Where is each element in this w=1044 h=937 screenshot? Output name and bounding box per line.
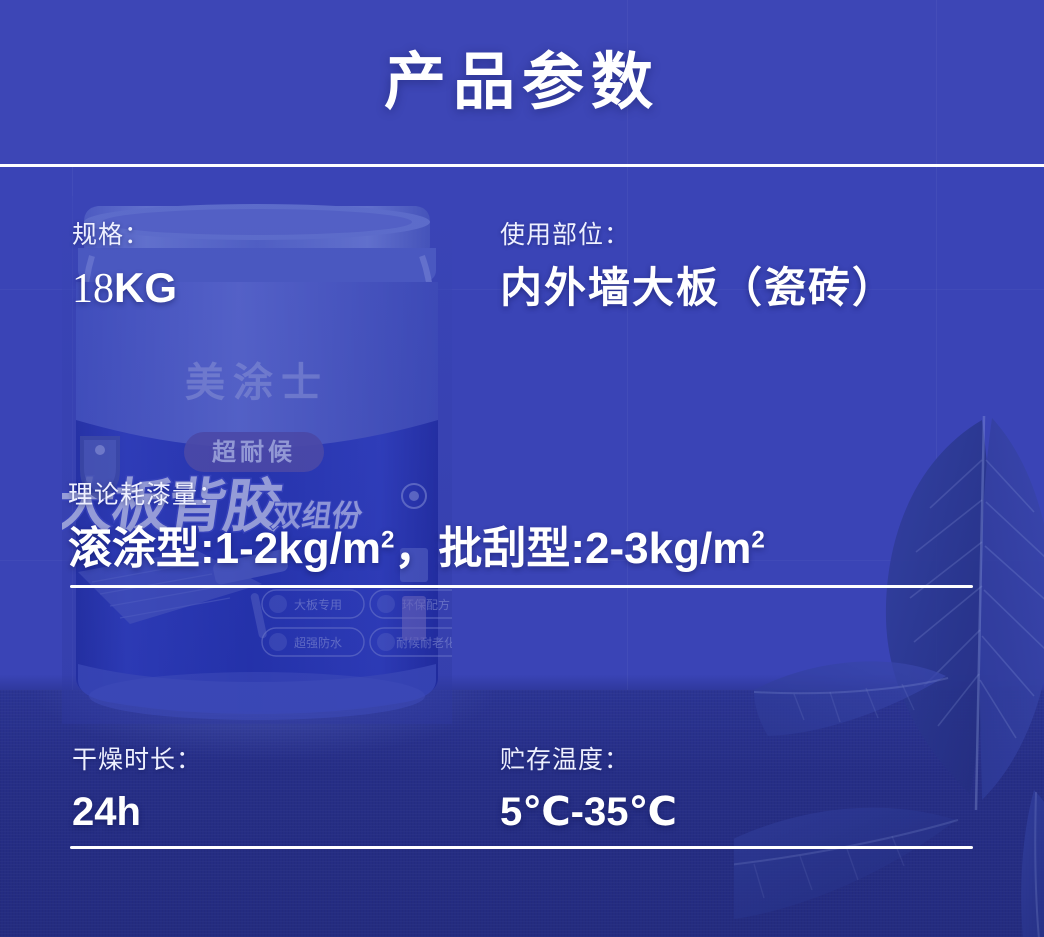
spec-value-consumption: 滚涂型:1-2kg/m2，批刮型:2-3kg/m2 xyxy=(68,524,1004,575)
consumption-roller: 滚涂型:1-2kg/m xyxy=(68,524,381,573)
consumption-separator: ，批刮型:2-3kg/m xyxy=(394,524,751,573)
spec-value-drying-time: 24h xyxy=(72,789,202,835)
consumption-sup-1: 2 xyxy=(381,526,394,553)
spec-item-storage-temp: 贮存温度： 5℃-35℃ xyxy=(500,745,677,835)
spec-label-application: 使用部位： xyxy=(500,220,896,250)
spec-label-drying-time: 干燥时长： xyxy=(72,745,202,775)
spec-list: 规格： 18KG 使用部位： 内外墙大板（瓷砖） 理论耗漆量： 滚涂型:1-2k… xyxy=(0,165,1044,937)
spec-label-size: 规格： xyxy=(72,220,177,250)
spec-row-2: 理论耗漆量： 滚涂型:1-2kg/m2，批刮型:2-3kg/m2 xyxy=(0,480,1044,745)
product-spec-card: 美涂士 超耐候 大板背胶 双组份 xyxy=(0,0,1044,937)
consumption-sup-2: 2 xyxy=(751,526,764,553)
spec-value-size-number: 18 xyxy=(72,266,114,312)
spec-row-3: 干燥时长： 24h 贮存温度： 5℃-35℃ xyxy=(0,745,1044,937)
spec-value-size-unit: KG xyxy=(114,264,177,311)
header: 产品参数 xyxy=(0,0,1044,165)
spec-item-size: 规格： 18KG xyxy=(72,220,177,313)
spec-item-consumption: 理论耗漆量： 滚涂型:1-2kg/m2，批刮型:2-3kg/m2 xyxy=(68,480,1004,575)
spec-item-application: 使用部位： 内外墙大板（瓷砖） xyxy=(500,220,896,312)
spec-label-consumption: 理论耗漆量： xyxy=(68,480,1004,510)
spec-label-storage-temp: 贮存温度： xyxy=(500,745,677,775)
spec-value-application: 内外墙大板（瓷砖） xyxy=(500,264,896,312)
spec-value-size: 18KG xyxy=(72,264,177,313)
spec-item-drying-time: 干燥时长： 24h xyxy=(72,745,202,835)
spec-row-1: 规格： 18KG 使用部位： 内外墙大板（瓷砖） xyxy=(0,220,1044,475)
spec-value-storage-temp: 5℃-35℃ xyxy=(500,789,677,835)
page-title: 产品参数 xyxy=(384,52,660,114)
